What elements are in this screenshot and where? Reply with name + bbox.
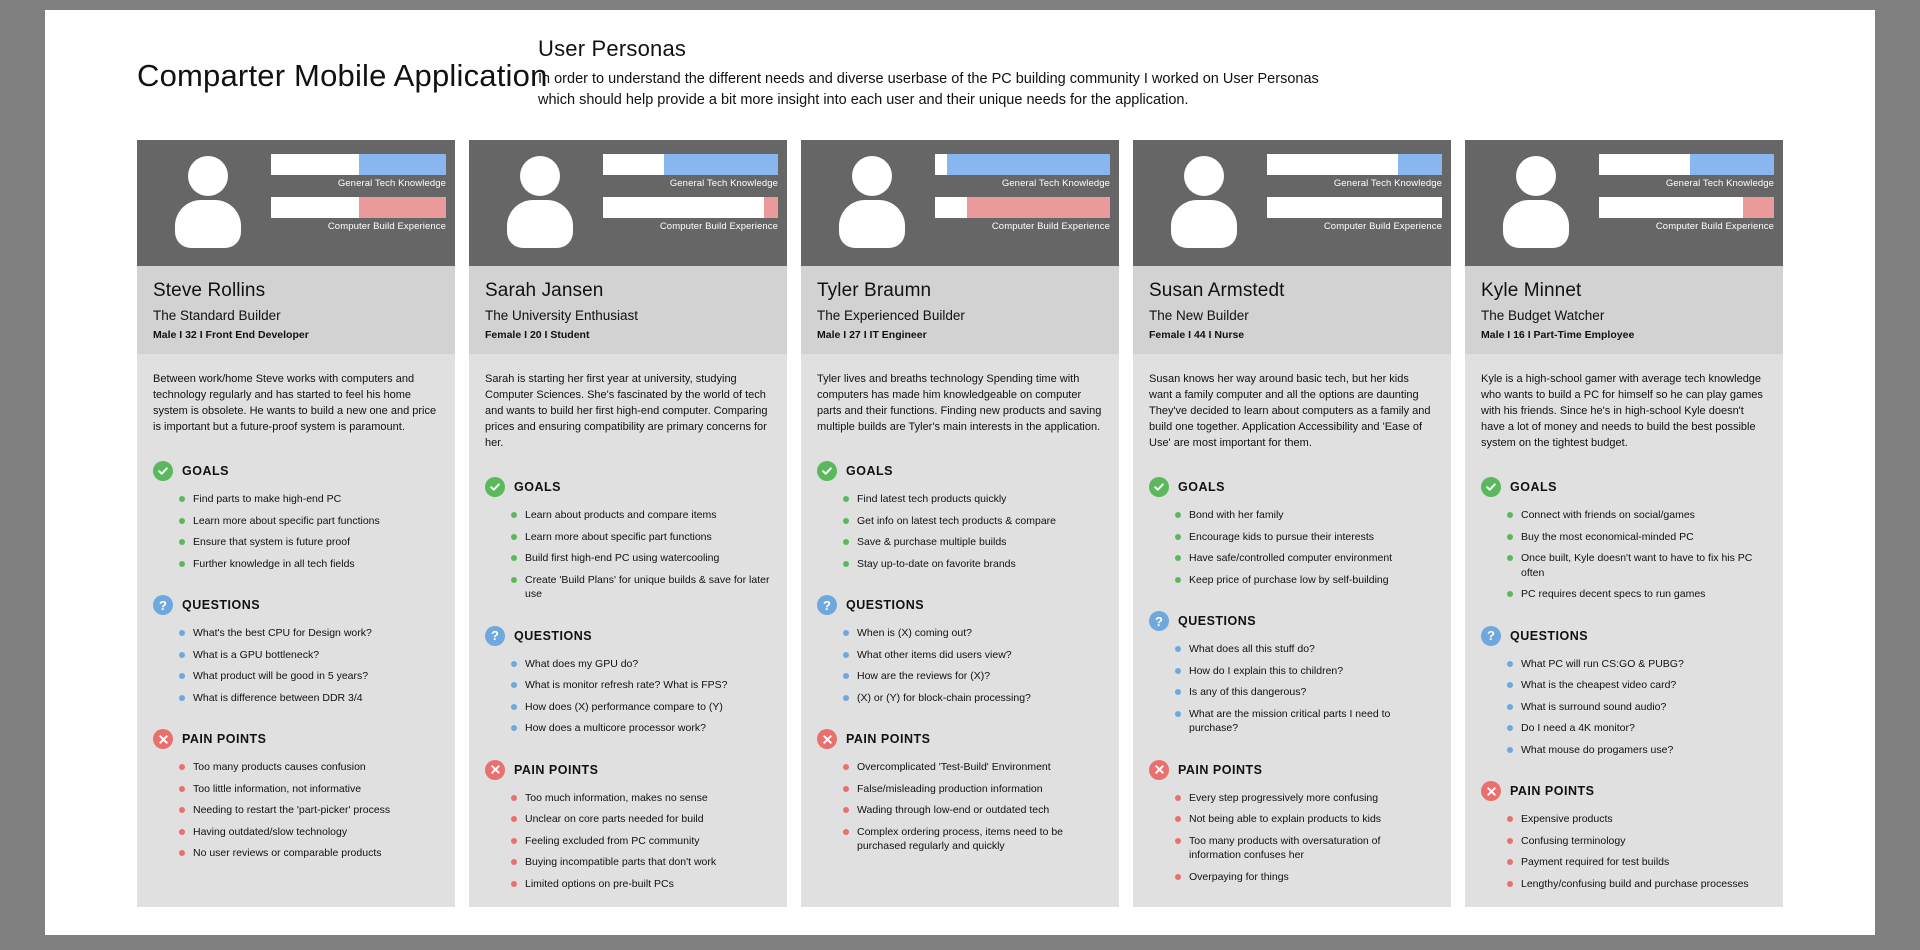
meter-bar xyxy=(935,154,1110,175)
list-item: What does all this stuff do? xyxy=(1175,642,1435,657)
page-header: Comparter Mobile Application User Person… xyxy=(45,10,1875,135)
list-item: What's the best CPU for Design work? xyxy=(179,626,439,641)
pains-list: Expensive productsConfusing terminologyP… xyxy=(1481,812,1767,891)
list-item: Once built, Kyle doesn't want to have to… xyxy=(1507,551,1767,580)
list-item: Payment required for test builds xyxy=(1507,855,1767,870)
meter-label: General Tech Knowledge xyxy=(1267,178,1442,189)
section-header: GOALS xyxy=(817,461,1103,481)
section-questions: ?QUESTIONSWhat's the best CPU for Design… xyxy=(153,595,439,705)
questions-list: What does my GPU do?What is monitor refr… xyxy=(485,657,771,736)
persona-description: Susan knows her way around basic tech, b… xyxy=(1149,371,1435,451)
persona-card-body: Sarah is starting her first year at univ… xyxy=(469,354,787,907)
persona-name: Sarah Jansen xyxy=(485,280,771,302)
meter-bar xyxy=(271,197,446,218)
persona-card-body: Tyler lives and breaths technology Spend… xyxy=(801,354,1119,907)
persona-name: Kyle Minnet xyxy=(1481,280,1767,302)
list-item: What is the cheapest video card? xyxy=(1507,678,1767,693)
x-circle-icon xyxy=(485,760,505,780)
list-item: When is (X) coming out? xyxy=(843,626,1103,641)
list-item: Too many products with oversaturation of… xyxy=(1175,834,1435,863)
meter-label: General Tech Knowledge xyxy=(1599,178,1774,189)
section-header: ?QUESTIONS xyxy=(153,595,439,615)
avatar-icon xyxy=(175,156,241,248)
section-goals: GOALSFind parts to make high-end PCLearn… xyxy=(153,461,439,571)
check-circle-icon xyxy=(817,461,837,481)
list-item: Overcomplicated 'Test-Build' Environment xyxy=(843,760,1103,775)
persona-identity: Tyler BraumnThe Experienced BuilderMale … xyxy=(801,266,1119,354)
persona-meta: Female I 20 I Student xyxy=(485,329,771,341)
page-title: Comparter Mobile Application xyxy=(137,58,548,94)
persona-card-header: General Tech KnowledgeComputer Build Exp… xyxy=(1133,140,1451,266)
list-item: Ensure that system is future proof xyxy=(179,535,439,550)
goals-list: Connect with friends on social/gamesBuy … xyxy=(1481,508,1767,602)
meter-label: Computer Build Experience xyxy=(603,221,778,232)
section-header: ?QUESTIONS xyxy=(817,595,1103,615)
avatar-icon xyxy=(507,156,573,248)
section-header: PAIN POINTS xyxy=(1149,760,1435,780)
meter-general-tech-knowledge: General Tech Knowledge xyxy=(1267,154,1442,189)
section-header: ?QUESTIONS xyxy=(485,626,771,646)
persona-meters: General Tech KnowledgeComputer Build Exp… xyxy=(603,154,778,232)
list-item: Find latest tech products quickly xyxy=(843,492,1103,507)
section-goals: GOALSConnect with friends on social/game… xyxy=(1481,477,1767,602)
persona-description: Between work/home Steve works with compu… xyxy=(153,371,439,435)
section-title: QUESTIONS xyxy=(846,598,924,612)
persona-meta: Male I 16 I Part-Time Employee xyxy=(1481,329,1767,341)
question-circle-icon: ? xyxy=(153,595,173,615)
check-circle-icon xyxy=(1149,477,1169,497)
section-title: PAIN POINTS xyxy=(182,732,266,746)
section-title: GOALS xyxy=(1178,480,1225,494)
meter-general-tech-knowledge: General Tech Knowledge xyxy=(935,154,1110,189)
x-circle-icon xyxy=(1149,760,1169,780)
meter-label: Computer Build Experience xyxy=(1267,221,1442,232)
persona-description: Tyler lives and breaths technology Spend… xyxy=(817,371,1103,435)
list-item: What is monitor refresh rate? What is FP… xyxy=(511,678,771,693)
persona-card: General Tech KnowledgeComputer Build Exp… xyxy=(469,140,787,907)
meter-bar xyxy=(935,197,1110,218)
persona-card-grid: General Tech KnowledgeComputer Build Exp… xyxy=(137,140,1787,907)
list-item: How does (X) performance compare to (Y) xyxy=(511,700,771,715)
section-header: PAIN POINTS xyxy=(817,729,1103,749)
section-title: PAIN POINTS xyxy=(846,732,930,746)
list-item: Find parts to make high-end PC xyxy=(179,492,439,507)
check-circle-icon xyxy=(1481,477,1501,497)
section-header: GOALS xyxy=(1481,477,1767,497)
avatar-icon xyxy=(1171,156,1237,248)
list-item: What product will be good in 5 years? xyxy=(179,669,439,684)
persona-name: Steve Rollins xyxy=(153,280,439,302)
intro-block: User Personas In order to understand the… xyxy=(538,36,1328,111)
section-goals: GOALSLearn about products and compare it… xyxy=(485,477,771,602)
persona-card: General Tech KnowledgeComputer Build Exp… xyxy=(137,140,455,907)
list-item: What mouse do progamers use? xyxy=(1507,743,1767,758)
persona-meters: General Tech KnowledgeComputer Build Exp… xyxy=(271,154,446,232)
section-pains: PAIN POINTSToo many products causes conf… xyxy=(153,729,439,861)
meter-label: General Tech Knowledge xyxy=(603,178,778,189)
list-item: Keep price of purchase low by self-build… xyxy=(1175,573,1435,588)
list-item: What is a GPU bottleneck? xyxy=(179,648,439,663)
section-pains: PAIN POINTSOvercomplicated 'Test-Build' … xyxy=(817,729,1103,854)
section-header: GOALS xyxy=(485,477,771,497)
poster-page: Comparter Mobile Application User Person… xyxy=(45,10,1875,935)
meter-computer-build-experience: Computer Build Experience xyxy=(935,197,1110,232)
meter-bar xyxy=(1267,154,1442,175)
persona-card: General Tech KnowledgeComputer Build Exp… xyxy=(1133,140,1451,907)
list-item: What are the mission critical parts I ne… xyxy=(1175,707,1435,736)
persona-card-header: General Tech KnowledgeComputer Build Exp… xyxy=(469,140,787,266)
list-item: Needing to restart the 'part-picker' pro… xyxy=(179,803,439,818)
list-item: Create 'Build Plans' for unique builds &… xyxy=(511,573,771,602)
persona-role: The University Enthusiast xyxy=(485,308,771,323)
list-item: What other items did users view? xyxy=(843,648,1103,663)
section-questions: ?QUESTIONSWhat does my GPU do?What is mo… xyxy=(485,626,771,736)
meter-computer-build-experience: Computer Build Experience xyxy=(603,197,778,232)
list-item: Have safe/controlled computer environmen… xyxy=(1175,551,1435,566)
section-header: PAIN POINTS xyxy=(153,729,439,749)
meter-computer-build-experience: Computer Build Experience xyxy=(271,197,446,232)
question-circle-icon: ? xyxy=(1481,626,1501,646)
list-item: Having outdated/slow technology xyxy=(179,825,439,840)
meter-bar xyxy=(1599,154,1774,175)
meter-bar xyxy=(1599,197,1774,218)
list-item: What is difference between DDR 3/4 xyxy=(179,691,439,706)
list-item: Further knowledge in all tech fields xyxy=(179,557,439,572)
questions-list: When is (X) coming out?What other items … xyxy=(817,626,1103,705)
section-questions: ?QUESTIONSWhat does all this stuff do?Ho… xyxy=(1149,611,1435,736)
pains-list: Overcomplicated 'Test-Build' Environment… xyxy=(817,760,1103,854)
list-item: Too little information, not informative xyxy=(179,782,439,797)
section-header: PAIN POINTS xyxy=(1481,781,1767,801)
meter-label: Computer Build Experience xyxy=(271,221,446,232)
list-item: Expensive products xyxy=(1507,812,1767,827)
persona-name: Susan Armstedt xyxy=(1149,280,1435,302)
meter-bar xyxy=(1267,197,1442,218)
persona-identity: Susan ArmstedtThe New BuilderFemale I 44… xyxy=(1133,266,1451,354)
section-title: QUESTIONS xyxy=(182,598,260,612)
section-pains: PAIN POINTSEvery step progressively more… xyxy=(1149,760,1435,885)
list-item: Stay up-to-date on favorite brands xyxy=(843,557,1103,572)
meter-general-tech-knowledge: General Tech Knowledge xyxy=(603,154,778,189)
list-item: Too much information, makes no sense xyxy=(511,791,771,806)
list-item: Is any of this dangerous? xyxy=(1175,685,1435,700)
list-item: Buy the most economical-minded PC xyxy=(1507,530,1767,545)
persona-description: Sarah is starting her first year at univ… xyxy=(485,371,771,451)
persona-role: The Budget Watcher xyxy=(1481,308,1767,323)
persona-meta: Male I 32 I Front End Developer xyxy=(153,329,439,341)
pains-list: Too much information, makes no senseUncl… xyxy=(485,791,771,892)
questions-list: What does all this stuff do?How do I exp… xyxy=(1149,642,1435,736)
meter-bar xyxy=(271,154,446,175)
persona-meters: General Tech KnowledgeComputer Build Exp… xyxy=(935,154,1110,232)
persona-identity: Sarah JansenThe University EnthusiastFem… xyxy=(469,266,787,354)
question-circle-icon: ? xyxy=(817,595,837,615)
section-title: QUESTIONS xyxy=(514,629,592,643)
x-circle-icon xyxy=(1481,781,1501,801)
x-circle-icon xyxy=(817,729,837,749)
list-item: Unclear on core parts needed for build xyxy=(511,812,771,827)
meter-computer-build-experience: Computer Build Experience xyxy=(1599,197,1774,232)
section-title: QUESTIONS xyxy=(1510,629,1588,643)
section-questions: ?QUESTIONSWhen is (X) coming out?What ot… xyxy=(817,595,1103,705)
list-item: Learn about products and compare items xyxy=(511,508,771,523)
check-circle-icon xyxy=(485,477,505,497)
intro-paragraph: In order to understand the different nee… xyxy=(538,69,1328,111)
meter-computer-build-experience: Computer Build Experience xyxy=(1267,197,1442,232)
list-item: Every step progressively more confusing xyxy=(1175,791,1435,806)
list-item: PC requires decent specs to run games xyxy=(1507,587,1767,602)
list-item: Lengthy/confusing build and purchase pro… xyxy=(1507,877,1767,892)
list-item: Build first high-end PC using watercooli… xyxy=(511,551,771,566)
list-item: Connect with friends on social/games xyxy=(1507,508,1767,523)
meter-bar xyxy=(603,154,778,175)
list-item: False/misleading production information xyxy=(843,782,1103,797)
meter-label: General Tech Knowledge xyxy=(271,178,446,189)
persona-role: The New Builder xyxy=(1149,308,1435,323)
meter-label: Computer Build Experience xyxy=(935,221,1110,232)
goals-list: Bond with her familyEncourage kids to pu… xyxy=(1149,508,1435,587)
section-title: PAIN POINTS xyxy=(1510,784,1594,798)
meter-bar xyxy=(603,197,778,218)
list-item: Confusing terminology xyxy=(1507,834,1767,849)
list-item: Save & purchase multiple builds xyxy=(843,535,1103,550)
persona-meta: Female I 44 I Nurse xyxy=(1149,329,1435,341)
goals-list: Find parts to make high-end PCLearn more… xyxy=(153,492,439,571)
section-title: GOALS xyxy=(514,480,561,494)
list-item: How does a multicore processor work? xyxy=(511,721,771,736)
section-header: GOALS xyxy=(153,461,439,481)
meter-general-tech-knowledge: General Tech Knowledge xyxy=(1599,154,1774,189)
list-item: Buying incompatible parts that don't wor… xyxy=(511,855,771,870)
list-item: What does my GPU do? xyxy=(511,657,771,672)
pains-list: Every step progressively more confusingN… xyxy=(1149,791,1435,885)
section-pains: PAIN POINTSToo much information, makes n… xyxy=(485,760,771,892)
list-item: How are the reviews for (X)? xyxy=(843,669,1103,684)
questions-list: What PC will run CS:GO & PUBG?What is th… xyxy=(1481,657,1767,758)
section-header: ?QUESTIONS xyxy=(1481,626,1767,646)
list-item: Learn more about specific part functions xyxy=(179,514,439,529)
persona-meters: General Tech KnowledgeComputer Build Exp… xyxy=(1267,154,1442,232)
section-header: GOALS xyxy=(1149,477,1435,497)
persona-card-body: Kyle is a high-school gamer with average… xyxy=(1465,354,1783,907)
section-title: GOALS xyxy=(1510,480,1557,494)
pains-list: Too many products causes confusionToo li… xyxy=(153,760,439,861)
list-item: How do I explain this to children? xyxy=(1175,664,1435,679)
section-title: GOALS xyxy=(182,464,229,478)
persona-role: The Standard Builder xyxy=(153,308,439,323)
questions-list: What's the best CPU for Design work?What… xyxy=(153,626,439,705)
list-item: Learn more about specific part functions xyxy=(511,530,771,545)
list-item: No user reviews or comparable products xyxy=(179,846,439,861)
persona-name: Tyler Braumn xyxy=(817,280,1103,302)
list-item: What PC will run CS:GO & PUBG? xyxy=(1507,657,1767,672)
list-item: Encourage kids to pursue their interests xyxy=(1175,530,1435,545)
intro-heading: User Personas xyxy=(538,36,1328,62)
list-item: Wading through low-end or outdated tech xyxy=(843,803,1103,818)
question-circle-icon: ? xyxy=(1149,611,1169,631)
persona-card-header: General Tech KnowledgeComputer Build Exp… xyxy=(1465,140,1783,266)
list-item: Too many products causes confusion xyxy=(179,760,439,775)
list-item: Not being able to explain products to ki… xyxy=(1175,812,1435,827)
avatar-icon xyxy=(1503,156,1569,248)
meter-general-tech-knowledge: General Tech Knowledge xyxy=(271,154,446,189)
list-item: Overpaying for things xyxy=(1175,870,1435,885)
persona-card-body: Between work/home Steve works with compu… xyxy=(137,354,455,907)
list-item: Do I need a 4K monitor? xyxy=(1507,721,1767,736)
x-circle-icon xyxy=(153,729,173,749)
persona-meta: Male I 27 I IT Engineer xyxy=(817,329,1103,341)
list-item: What is surround sound audio? xyxy=(1507,700,1767,715)
persona-meters: General Tech KnowledgeComputer Build Exp… xyxy=(1599,154,1774,232)
meter-label: General Tech Knowledge xyxy=(935,178,1110,189)
list-item: Feeling excluded from PC community xyxy=(511,834,771,849)
goals-list: Learn about products and compare itemsLe… xyxy=(485,508,771,602)
section-title: PAIN POINTS xyxy=(1178,763,1262,777)
persona-card-header: General Tech KnowledgeComputer Build Exp… xyxy=(137,140,455,266)
section-goals: GOALSFind latest tech products quicklyGe… xyxy=(817,461,1103,571)
question-circle-icon: ? xyxy=(485,626,505,646)
section-header: PAIN POINTS xyxy=(485,760,771,780)
persona-identity: Steve RollinsThe Standard BuilderMale I … xyxy=(137,266,455,354)
list-item: Complex ordering process, items need to … xyxy=(843,825,1103,854)
section-title: GOALS xyxy=(846,464,893,478)
section-title: QUESTIONS xyxy=(1178,614,1256,628)
section-header: ?QUESTIONS xyxy=(1149,611,1435,631)
avatar-icon xyxy=(839,156,905,248)
persona-role: The Experienced Builder xyxy=(817,308,1103,323)
persona-card-body: Susan knows her way around basic tech, b… xyxy=(1133,354,1451,907)
list-item: Bond with her family xyxy=(1175,508,1435,523)
list-item: Get info on latest tech products & compa… xyxy=(843,514,1103,529)
persona-card-header: General Tech KnowledgeComputer Build Exp… xyxy=(801,140,1119,266)
section-pains: PAIN POINTSExpensive productsConfusing t… xyxy=(1481,781,1767,891)
list-item: (X) or (Y) for block-chain processing? xyxy=(843,691,1103,706)
list-item: Limited options on pre-built PCs xyxy=(511,877,771,892)
goals-list: Find latest tech products quicklyGet inf… xyxy=(817,492,1103,571)
check-circle-icon xyxy=(153,461,173,481)
meter-label: Computer Build Experience xyxy=(1599,221,1774,232)
persona-card: General Tech KnowledgeComputer Build Exp… xyxy=(1465,140,1783,907)
section-goals: GOALSBond with her familyEncourage kids … xyxy=(1149,477,1435,587)
persona-description: Kyle is a high-school gamer with average… xyxy=(1481,371,1767,451)
persona-identity: Kyle MinnetThe Budget WatcherMale I 16 I… xyxy=(1465,266,1783,354)
persona-card: General Tech KnowledgeComputer Build Exp… xyxy=(801,140,1119,907)
section-questions: ?QUESTIONSWhat PC will run CS:GO & PUBG?… xyxy=(1481,626,1767,758)
section-title: PAIN POINTS xyxy=(514,763,598,777)
